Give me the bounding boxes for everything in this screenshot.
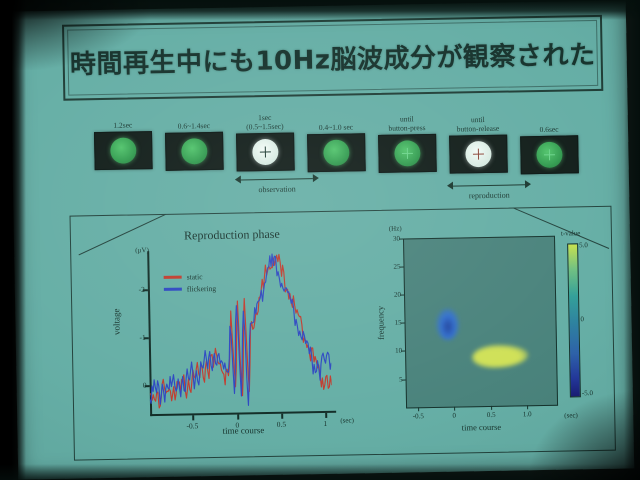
colorbar-title: t-value <box>561 229 581 237</box>
negative-cluster-blob <box>437 308 460 340</box>
stimulus-step-3: 1sec (0.5~1.5sec) <box>236 132 295 171</box>
stimulus-step-4: 0.4~1.0 sec <box>307 133 366 172</box>
tf-heatmap <box>403 236 558 409</box>
tf-x-tick-label: 0.5 <box>487 411 496 419</box>
erp-y-tick-label: -2 <box>139 285 145 294</box>
fixation-cross-icon <box>402 148 413 159</box>
tf-y-tick-label: 10 <box>395 347 402 355</box>
erp-y-axis-label: voltage <box>111 308 121 335</box>
tf-x-tick-label: 0 <box>452 412 456 420</box>
screenshot-frame: 時間再生中にも10Hz脳波成分が観察された 1.2sec 0.6~1.4sec … <box>0 0 640 480</box>
green-disc-icon <box>110 137 136 163</box>
fixation-cross-icon <box>544 149 555 160</box>
legend-swatch <box>164 276 182 279</box>
erp-x-unit: (sec) <box>340 416 354 424</box>
stimulus-step-2: 0.6~1.4sec <box>165 132 224 171</box>
erp-x-axis-label: time course <box>150 424 336 437</box>
erp-chart-title: Reproduction phase <box>137 226 327 244</box>
reproduction-arrow-icon <box>447 180 531 190</box>
legend-label: static <box>187 272 203 281</box>
fixation-cross-icon <box>260 146 271 157</box>
tf-y-tick-label: 15 <box>394 319 401 327</box>
phase-label-reproduction: reproduction <box>447 190 531 201</box>
stimulus-step-6: until button-release <box>449 135 508 174</box>
stimulus-display <box>449 135 508 174</box>
stimulus-display <box>307 133 366 172</box>
tf-y-tick-label: 30 <box>393 235 400 243</box>
stimulus-caption: 0.6sec <box>506 125 592 135</box>
tf-y-tick-label: 20 <box>394 291 401 299</box>
observation-arrow-icon <box>235 174 319 184</box>
stimulus-display <box>94 131 153 170</box>
stimulus-display <box>520 135 579 174</box>
fixation-cross-icon <box>473 149 484 160</box>
legend-entry-static: static <box>164 272 216 282</box>
green-disc-icon <box>323 139 349 165</box>
stimulus-display <box>378 134 437 173</box>
stimulus-step-5: until button-press <box>378 134 437 173</box>
stimulus-display <box>165 132 224 171</box>
tf-y-tick-label: 5 <box>399 376 403 384</box>
legend-entry-flickering: flickering <box>164 284 216 294</box>
erp-chart: Reproduction phase (µV) voltage -2 -1 0 <box>101 225 355 448</box>
erp-y-tick-label: 0 <box>143 381 147 390</box>
tf-y-axis-label: frequency <box>375 306 386 340</box>
legend-swatch <box>164 288 182 291</box>
room-edge-left <box>0 0 26 480</box>
room-corner-bottom-right <box>520 384 640 480</box>
colorbar-max-label: 5.0 <box>579 241 588 249</box>
colorbar-mid-label: 0 <box>580 315 584 323</box>
legend-label: flickering <box>187 284 216 294</box>
room-corner-top-left <box>0 0 150 70</box>
stimulus-sequence: 1.2sec 0.6~1.4sec 1sec (0.5~1.5sec) <box>94 97 616 219</box>
erp-legend: static flickering <box>164 272 217 297</box>
stimulus-display <box>236 132 295 171</box>
positive-cluster-blob <box>472 344 529 368</box>
colorbar <box>567 243 581 397</box>
green-disc-icon <box>181 138 207 164</box>
stimulus-step-1: 1.2sec <box>94 131 153 170</box>
tf-y-tick-label: 25 <box>393 263 400 271</box>
tf-x-tick-label: -0.5 <box>413 412 424 420</box>
tf-y-unit: (Hz) <box>389 225 402 233</box>
phase-label-observation: observation <box>235 184 319 195</box>
erp-y-tick-label: -1 <box>139 333 145 342</box>
stimulus-step-7: 0.6sec <box>520 135 579 174</box>
